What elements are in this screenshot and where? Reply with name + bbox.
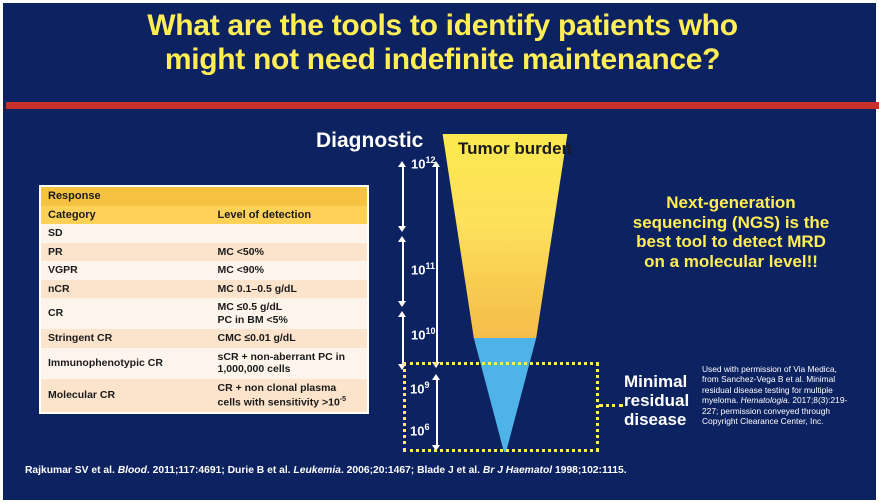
permission-line-5: 227; permission conveyed through	[702, 406, 874, 416]
permission-line-1: Used with permission of Via Medica,	[702, 364, 874, 374]
diagnostic-label: Diagnostic	[316, 129, 423, 153]
table-row: Molecular CR CR + non clonal plasma cell…	[41, 379, 367, 413]
scale-tick-1e10: 1010	[411, 326, 435, 342]
cell-category: Stringent CR	[41, 329, 211, 348]
cell-category: Molecular CR	[41, 379, 211, 413]
detection-line-2: 1,000,000 cells	[218, 363, 291, 375]
scale-segment-12	[402, 166, 404, 228]
table-row: VGPR MC <90%	[41, 261, 367, 280]
scale-tick-1e12: 1012	[411, 155, 435, 171]
citation: Rajkumar SV et al. Blood. 2011;117:4691;…	[25, 465, 865, 476]
arrowhead-down	[398, 301, 406, 307]
ngs-callout: Next-generation sequencing (NGS) is the …	[589, 193, 873, 271]
table-row: nCR MC 0.1–0.5 g/dL	[41, 280, 367, 299]
table-header-row: Category Level of detection	[41, 206, 367, 225]
mrd-label-line-1: Minimal	[624, 372, 689, 391]
cell-detection: sCR + non-aberrant PC in 1,000,000 cells	[211, 348, 367, 379]
slide: What are the tools to identify patients …	[0, 0, 879, 503]
ngs-line-3: best tool to detect MRD	[589, 232, 873, 252]
cell-detection: MC <50%	[211, 243, 367, 262]
scale-segment-11	[402, 241, 404, 303]
detection-line-2: cells with sensitivity >10	[218, 397, 340, 409]
cell-detection: MC 0.1–0.5 g/dL	[211, 280, 367, 299]
mrd-label: Minimal residual disease	[624, 372, 689, 429]
table-title: Response	[41, 187, 367, 206]
column-header-detection: Level of detection	[211, 206, 367, 225]
table-row: Stringent CR CMC ≤0.01 g/dL	[41, 329, 367, 348]
scale-segment-10	[402, 316, 404, 366]
table-title-row: Response	[41, 187, 367, 206]
table-row: Immunophenotypic CR sCR + non-aberrant P…	[41, 348, 367, 379]
title-line-1: What are the tools to identify patients …	[3, 9, 879, 43]
table-row: CR MC ≤0.5 g/dL PC in BM <5%	[41, 298, 367, 329]
detection-line-1: CR + non clonal plasma	[218, 382, 337, 394]
cell-category: CR	[41, 298, 211, 329]
permission-line-3: residual disease testing for multiple	[702, 385, 874, 395]
title-divider	[6, 102, 879, 109]
column-header-category: Category	[41, 206, 211, 225]
tumor-burden-label: Tumor burden	[458, 139, 572, 159]
arrowhead-down	[398, 226, 406, 232]
mrd-label-line-2: residual	[624, 391, 689, 410]
permission-line-4: myeloma. Hematologia. 2017;8(3):219-	[702, 395, 874, 405]
title-line-2: might not need indefinite maintenance?	[3, 43, 879, 77]
diagnostic-range-bar	[436, 166, 438, 364]
detection-line-2: PC in BM <5%	[218, 314, 288, 326]
cell-detection: CMC ≤0.01 g/dL	[211, 329, 367, 348]
cell-category: VGPR	[41, 261, 211, 280]
detection-line-1: sCR + non-aberrant PC in	[218, 351, 345, 363]
ngs-line-4: on a molecular level!!	[589, 252, 873, 272]
funnel-upper-segment	[440, 134, 570, 338]
page-title: What are the tools to identify patients …	[3, 9, 879, 77]
detection-line-1: MC ≤0.5 g/dL	[218, 301, 283, 313]
mrd-label-line-3: disease	[624, 410, 689, 429]
cell-detection: MC ≤0.5 g/dL PC in BM <5%	[211, 298, 367, 329]
cell-category: PR	[41, 243, 211, 262]
ngs-line-1: Next-generation	[589, 193, 873, 213]
ngs-line-2: sequencing (NGS) is the	[589, 213, 873, 233]
table-row: PR MC <50%	[41, 243, 367, 262]
cell-category: SD	[41, 224, 211, 243]
cell-detection: MC <90%	[211, 261, 367, 280]
cell-category: Immunophenotypic CR	[41, 348, 211, 379]
cell-detection: CR + non clonal plasma cells with sensit…	[211, 379, 367, 413]
response-table: Response Category Level of detection SD …	[39, 185, 369, 414]
mrd-region-box	[403, 362, 599, 452]
cell-category: nCR	[41, 280, 211, 299]
table-row: SD	[41, 224, 367, 243]
permission-note: Used with permission of Via Medica, from…	[702, 364, 874, 426]
mrd-connector-line	[599, 404, 623, 407]
permission-line-6: Copyright Clearance Center, Inc.	[702, 416, 874, 426]
scale-tick-1e11: 1011	[411, 261, 435, 277]
permission-line-2: from Sanchez-Vega B et al. Minimal	[702, 374, 874, 384]
cell-detection	[211, 224, 367, 243]
detection-superscript: -5	[340, 396, 346, 403]
